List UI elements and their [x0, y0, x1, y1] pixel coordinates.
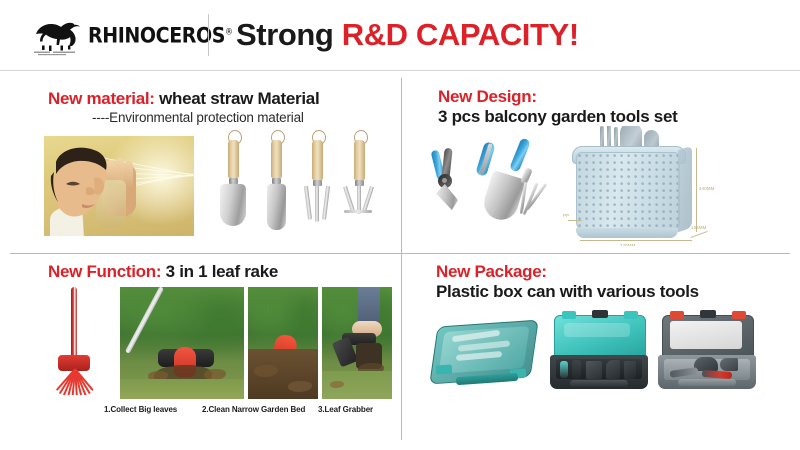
- br-heading-dark: Plastic box can with various tools: [436, 281, 699, 302]
- tl-heading: New material: wheat straw Material: [48, 88, 319, 109]
- bl-heading-red: New Function:: [48, 262, 161, 281]
- brand-wordmark: RHINOCEROS®: [88, 24, 233, 49]
- dim-width-label: 240MM: [620, 243, 636, 246]
- br-heading-red: New Package:: [436, 261, 547, 282]
- caption-1: 1.Collect Big leaves: [104, 405, 177, 414]
- slide-header: RHINOCEROS® Strong R&D CAPACITY!: [0, 0, 800, 70]
- caption-3: 3.Leaf Grabber: [318, 405, 373, 414]
- page-title: Strong R&D CAPACITY!: [236, 17, 579, 53]
- face-illustration: [44, 142, 134, 236]
- closed-teal-case: [426, 317, 542, 389]
- title-dark-part: Strong: [236, 17, 333, 52]
- registered-trademark-icon: ®: [225, 27, 233, 37]
- open-gray-case: [658, 311, 756, 391]
- quadrant-new-function: New Function: 3 in 1 leaf rake: [0, 255, 401, 445]
- brand-name: RHINOCEROS: [88, 24, 225, 49]
- title-red-part: R&D CAPACITY!: [342, 17, 579, 52]
- use-case-photo-2: [248, 287, 318, 399]
- tl-subheading: ----Environmental protection material: [92, 109, 304, 127]
- quadrant-new-material: New material: wheat straw Material ----E…: [0, 78, 401, 253]
- tr-heading-red: New Design:: [438, 86, 537, 107]
- storage-basket-product: 240MM 240MM 105MM PP: [562, 126, 712, 246]
- dim-height-label: 240MM: [699, 186, 715, 191]
- leaf-rake-product: [38, 287, 112, 395]
- dim-material-label: PP: [563, 213, 569, 218]
- brand-logo: RHINOCEROS®: [28, 16, 203, 56]
- header-rule: [0, 70, 800, 71]
- tl-heading-dark: wheat straw Material: [159, 89, 319, 108]
- open-teal-case: [550, 311, 648, 391]
- header-divider: [208, 14, 209, 56]
- wheat-straw-photo: [44, 136, 194, 236]
- tl-heading-red: New material:: [48, 89, 155, 108]
- use-case-photo-3: [322, 287, 392, 399]
- tr-heading-dark: 3 pcs balcony garden tools set: [438, 106, 677, 127]
- balcony-tools-set-image: 240MM 240MM 105MM PP: [412, 126, 798, 246]
- garden-tools-wood-handle: [214, 128, 386, 238]
- caption-2: 2.Clean Narrow Garden Bed: [202, 405, 305, 414]
- quadrant-new-package: New Package: Plastic box can with variou…: [402, 255, 800, 445]
- bl-heading-dark: 3 in 1 leaf rake: [166, 262, 278, 281]
- marketing-slide: RHINOCEROS® Strong R&D CAPACITY! New mat…: [0, 0, 800, 450]
- quadrant-new-design: New Design: 3 pcs balcony garden tools s…: [402, 78, 800, 253]
- rhinoceros-logo-icon: [28, 16, 86, 56]
- horizontal-divider: [10, 253, 790, 254]
- use-case-photo-1: [120, 287, 244, 399]
- dim-depth-label: 105MM: [691, 225, 707, 230]
- bl-heading: New Function: 3 in 1 leaf rake: [48, 261, 278, 282]
